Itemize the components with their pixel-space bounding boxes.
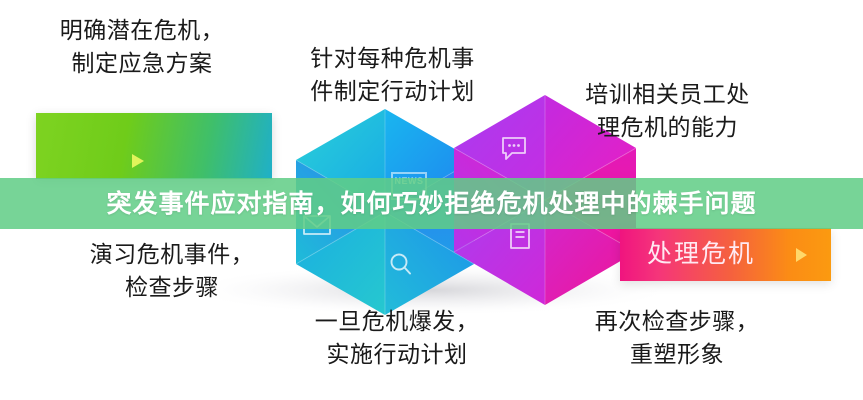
play-triangle-icon [132,154,144,168]
caption-bottom-right: 再次检查步骤， 重塑形象 [552,305,802,371]
caption-top-middle: 针对每种危机事 件制定行动计划 [270,42,515,108]
right-gradient-bar: 处理危机 [620,228,831,281]
page-title: 突发事件应对指南，如何巧妙拒绝危机处理中的棘手问题 [0,183,863,225]
search-icon [387,251,415,279]
chat-icon [499,134,529,164]
play-triangle-icon [796,248,807,262]
caption-top-left: 明确潜在危机， 制定应急方案 [22,14,262,80]
screenshot-root: NEWS 处理危机 突发事件应对指南，如何巧妙拒绝危机处理中的棘手问题 明确潜在… [0,0,863,400]
caption-bottom-middle: 一旦危机爆发， 实施行动计划 [272,305,522,371]
caption-top-right: 培训相关员工处 理危机的能力 [545,78,790,144]
handle-crisis-label: 处理危机 [647,237,755,271]
left-gradient-bar [36,113,272,179]
caption-bottom-left: 演习危机事件， 检查步骤 [52,238,292,304]
wifi-icon [276,136,306,166]
